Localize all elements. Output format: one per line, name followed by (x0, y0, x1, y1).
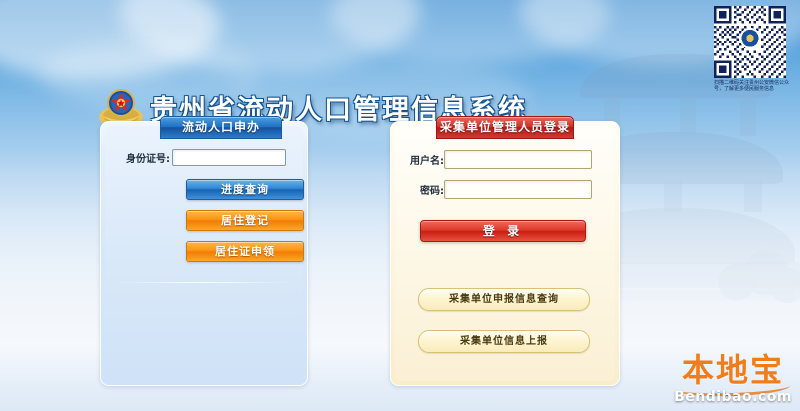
username-input[interactable] (444, 150, 592, 169)
id-number-input[interactable] (172, 149, 286, 166)
app-window: 贵州省流动人口管理信息系统 (0, 0, 800, 411)
residence-registration-button[interactable]: 居住登记 (186, 210, 304, 231)
page-header: 贵州省流动人口管理信息系统 (0, 40, 800, 98)
tab-admin-login[interactable]: 采集单位管理人员登录 (436, 116, 574, 139)
residence-permit-apply-button[interactable]: 居住证申领 (186, 241, 304, 262)
password-row: 密码: (410, 180, 592, 199)
panel-divider (112, 282, 294, 283)
qr-code-caption: 扫描二维码关注贵州公安微信公众号，了解更多便民服务信息 (714, 80, 792, 92)
id-number-label: 身份证号: (126, 150, 172, 165)
progress-query-button[interactable]: 进度查询 (186, 179, 304, 200)
password-label: 密码: (410, 182, 444, 197)
login-button[interactable]: 登 录 (420, 220, 586, 242)
qr-code-block: 扫描二维码关注贵州公安微信公众号，了解更多便民服务信息 (714, 6, 792, 102)
watermark-en-text: Bendibao.com (674, 389, 792, 405)
qr-code-icon[interactable] (714, 6, 786, 78)
bendibao-watermark: 本地宝 Bendibao.com (674, 353, 792, 405)
id-number-row: 身份证号: (126, 149, 286, 166)
username-label: 用户名: (410, 152, 444, 167)
unit-report-query-button[interactable]: 采集单位申报信息查询 (418, 288, 590, 311)
unit-info-report-button[interactable]: 采集单位信息上报 (418, 330, 590, 353)
username-row: 用户名: (410, 150, 592, 169)
password-input[interactable] (444, 180, 592, 199)
tab-citizen-application[interactable]: 流动人口申办 (160, 116, 282, 139)
